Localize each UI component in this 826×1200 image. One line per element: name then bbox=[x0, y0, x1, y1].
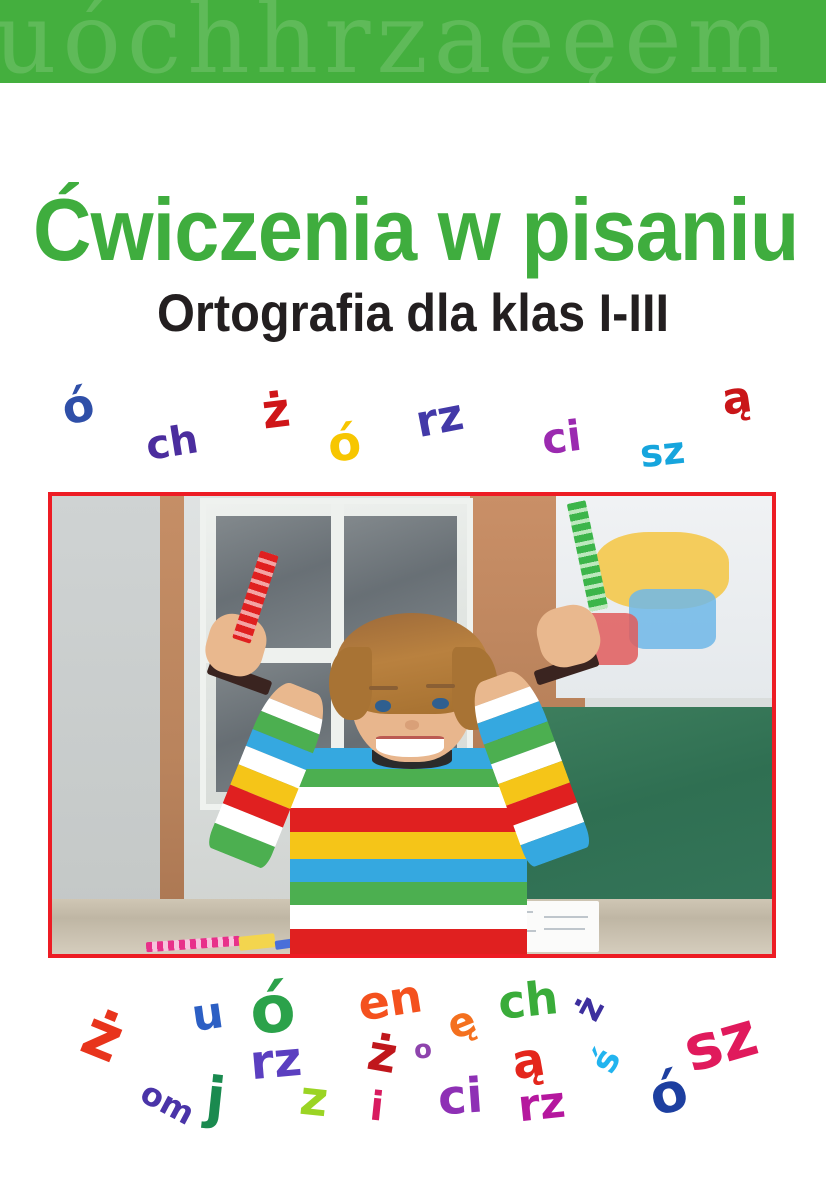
page-title: Ćwiczenia w pisaniu bbox=[33, 182, 793, 278]
letter-bottom-ż: ż bbox=[570, 991, 612, 1026]
classroom-wall-left bbox=[52, 496, 160, 954]
bottom-letter-cluster: żomujórzzenżioęcichąrzżśósz bbox=[0, 975, 826, 1150]
letter-top-ch: ch bbox=[143, 419, 201, 467]
letter-bottom-i: i bbox=[368, 1086, 386, 1127]
letter-top-ż: ż bbox=[259, 385, 293, 436]
letter-bottom-ś: ś bbox=[586, 1043, 628, 1079]
letter-bottom-u: u bbox=[189, 991, 226, 1039]
letter-top-rz: rz bbox=[412, 393, 467, 445]
letter-top-sz: sz bbox=[638, 431, 686, 473]
letter-bottom-ż: ż bbox=[364, 1027, 401, 1081]
header-watermark-letters: uóchhrzaeęem bbox=[0, 0, 826, 83]
boy-hair-left bbox=[329, 647, 372, 720]
letter-bottom-ch: ch bbox=[496, 974, 560, 1026]
letter-bottom-z: z bbox=[298, 1074, 331, 1125]
letter-bottom-o: o bbox=[413, 1036, 433, 1063]
letter-bottom-ci: ci bbox=[436, 1071, 484, 1122]
page-subtitle: Ortografia dla klas I-III bbox=[33, 284, 793, 344]
header-band: uóchhrzaeęem bbox=[0, 0, 826, 83]
letter-bottom-rz: rz bbox=[516, 1081, 568, 1130]
letter-bottom-sz: sz bbox=[677, 1002, 764, 1082]
letter-bottom-ę: ę bbox=[441, 999, 481, 1046]
title-block: Ćwiczenia w pisaniu Ortografia dla klas … bbox=[0, 182, 826, 344]
boy-mouth bbox=[376, 736, 444, 757]
letter-bottom-ż: ż bbox=[73, 1000, 132, 1073]
letter-bottom-rz: rz bbox=[248, 1035, 304, 1087]
letter-bottom-ó: ó bbox=[643, 1063, 694, 1125]
letter-bottom-j: j bbox=[203, 1070, 228, 1128]
door-frame bbox=[160, 496, 184, 954]
cover-photo-frame bbox=[48, 492, 776, 958]
letter-bottom-om: om bbox=[136, 1076, 200, 1130]
letter-top-ó: ó bbox=[326, 418, 364, 469]
letter-top-ą: ą bbox=[719, 375, 755, 423]
letter-bottom-en: en bbox=[355, 972, 425, 1027]
letter-top-ci: ci bbox=[540, 415, 584, 461]
boy-nose bbox=[405, 720, 419, 729]
boy-eyebrow-right bbox=[426, 684, 455, 688]
boy-eye-right bbox=[432, 698, 449, 710]
top-letter-cluster: óchżórzciszą bbox=[0, 355, 826, 490]
letter-top-ó: ó bbox=[57, 380, 99, 432]
boy-striped-shirt bbox=[290, 748, 528, 954]
cover-photo bbox=[52, 496, 772, 954]
boy-eye-left bbox=[375, 700, 392, 712]
boy-eyebrow-left bbox=[369, 686, 398, 690]
